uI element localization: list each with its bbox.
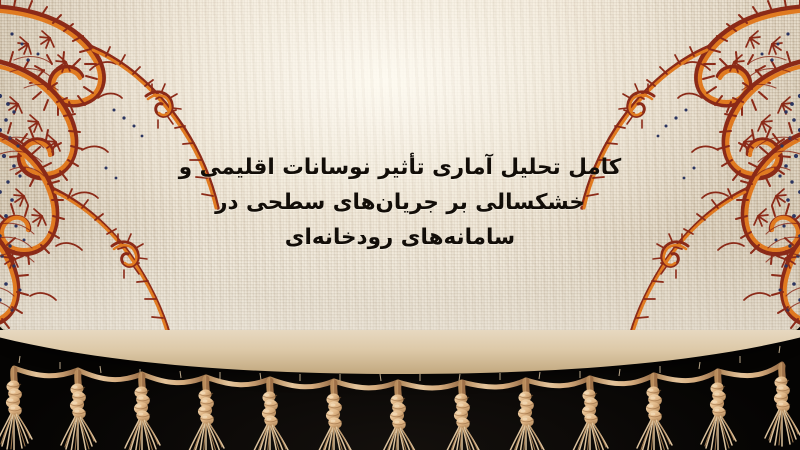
slide-title: کامل تحلیل آماری تأثیر نوسانات اقلیمی و …: [175, 150, 625, 255]
slide-canvas: کامل تحلیل آماری تأثیر نوسانات اقلیمی و …: [0, 0, 800, 450]
title-line-3: سامانه‌های رودخانه‌ای: [175, 220, 625, 255]
title-line-1: کامل تحلیل آماری تأثیر نوسانات اقلیمی و: [175, 150, 625, 185]
title-line-2: خشکسالی بر جریان‌های سطحی در: [175, 185, 625, 220]
